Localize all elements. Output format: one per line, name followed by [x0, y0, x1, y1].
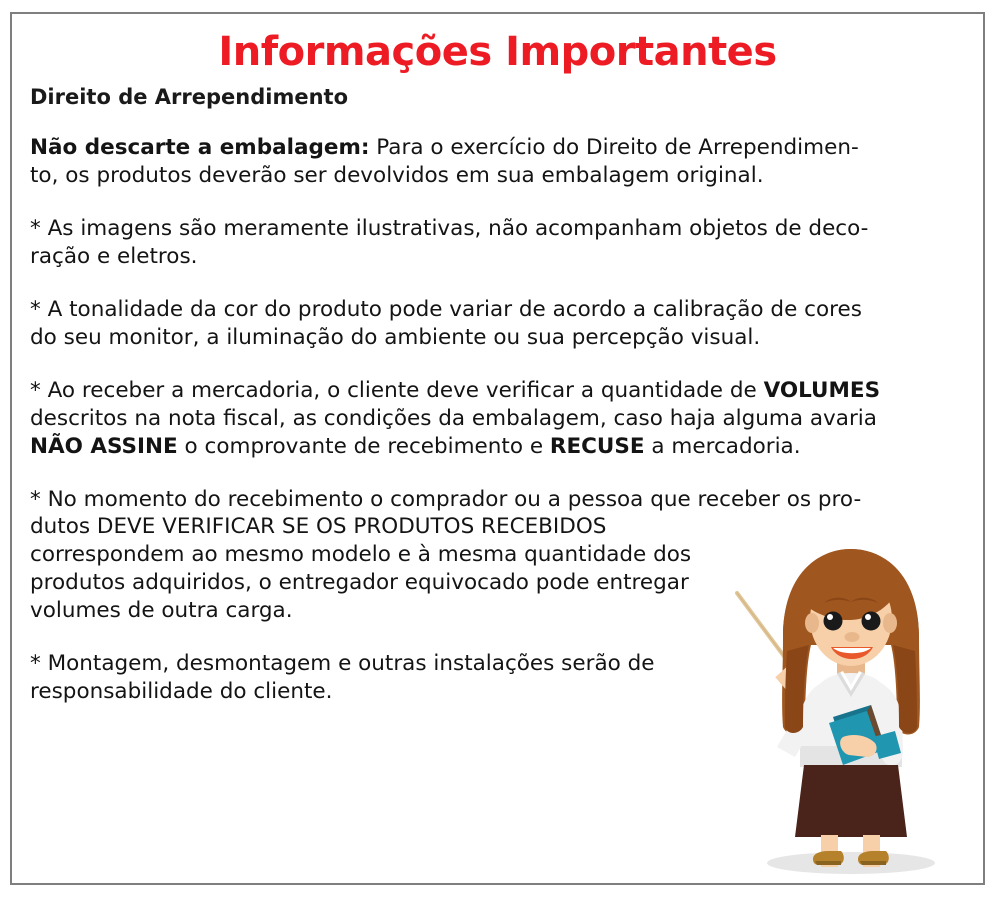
- paragraph-montagem: * Montagem, desmontagem e outras instala…: [30, 650, 967, 706]
- leg-left: [821, 835, 838, 867]
- book-icon: [829, 705, 901, 765]
- paragraph-embalagem-lead: Não descarte a embalagem:: [30, 135, 369, 160]
- body-text-container: Não descarte a embalagem: Para o exercíc…: [12, 109, 983, 706]
- section-subtitle: Direito de Arrependimento: [12, 72, 983, 109]
- paragraph-volumes-bold-volumes: VOLUMES: [764, 378, 881, 403]
- spacer: [30, 461, 967, 486]
- shoe-right-icon: [858, 851, 889, 865]
- page-root: Informações Importantes Direito de Arrep…: [0, 0, 1000, 900]
- leg-right: [863, 835, 880, 867]
- paragraph-recebimento: * No momento do recebimento o comprador …: [30, 486, 967, 626]
- paragraph-volumes-bold-nao-assine: NÃO ASSINE: [30, 434, 178, 459]
- spacer: [30, 271, 967, 296]
- paragraph-embalagem: Não descarte a embalagem: Para o exercíc…: [30, 134, 967, 190]
- information-card: Informações Importantes Direito de Arrep…: [10, 12, 985, 885]
- spacer: [30, 352, 967, 377]
- paragraph-volumes-seg1: * Ao receber a mercadoria, o cliente dev…: [30, 378, 764, 403]
- paragraph-imagens: * As imagens são meramente ilustrativas,…: [30, 215, 967, 271]
- paragraph-volumes-seg3: o comprovante de recebimento e: [178, 434, 550, 459]
- skirt: [795, 765, 907, 837]
- figure-ground-shadow: [767, 852, 935, 874]
- spacer: [30, 109, 967, 134]
- hand-on-book: [840, 735, 876, 757]
- shirt-shadow: [800, 746, 902, 767]
- shoe-left-icon: [813, 851, 844, 865]
- spacer: [30, 190, 967, 215]
- paragraph-volumes-seg4: a mercadoria.: [645, 434, 801, 459]
- paragraph-volumes-seg2: descritos na nota fiscal, as condições d…: [30, 406, 877, 431]
- page-title: Informações Importantes: [12, 14, 983, 72]
- paragraph-volumes-bold-recuse: RECUSE: [550, 434, 645, 459]
- spacer: [30, 625, 967, 650]
- paragraph-tonalidade: * A tonalidade da cor do produto pode va…: [30, 296, 967, 352]
- paragraph-volumes: * Ao receber a mercadoria, o cliente dev…: [30, 377, 967, 461]
